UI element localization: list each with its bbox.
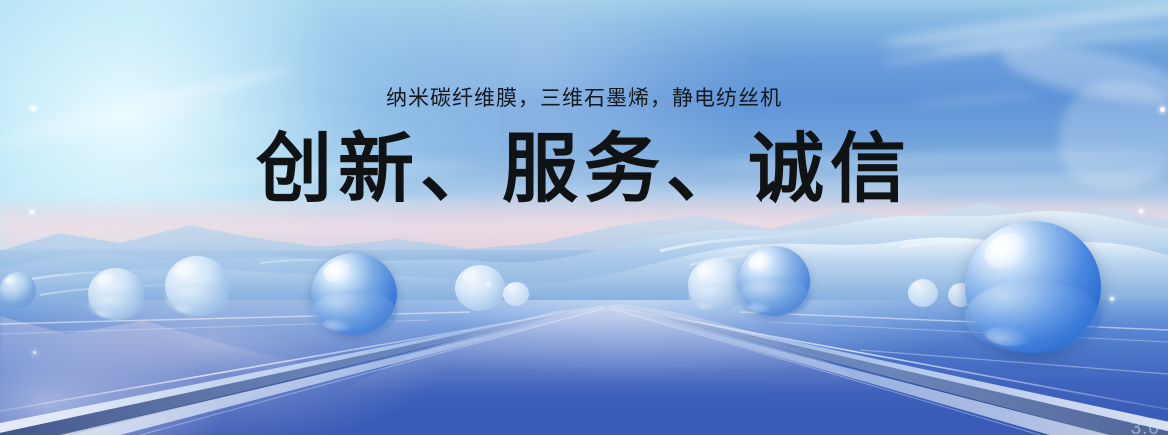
banner-headline: 创新、服务、诚信	[0, 129, 1168, 209]
hero-banner: 纳米碳纤维膜，三维石墨烯，静电纺丝机 创新、服务、诚信 3.0	[0, 0, 1168, 435]
banner-copy: 纳米碳纤维膜，三维石墨烯，静电纺丝机 创新、服务、诚信 3.0	[0, 0, 1168, 435]
corner-watermark: 3.0	[1131, 418, 1160, 435]
banner-subtitle: 纳米碳纤维膜，三维石墨烯，静电纺丝机	[0, 86, 1168, 111]
